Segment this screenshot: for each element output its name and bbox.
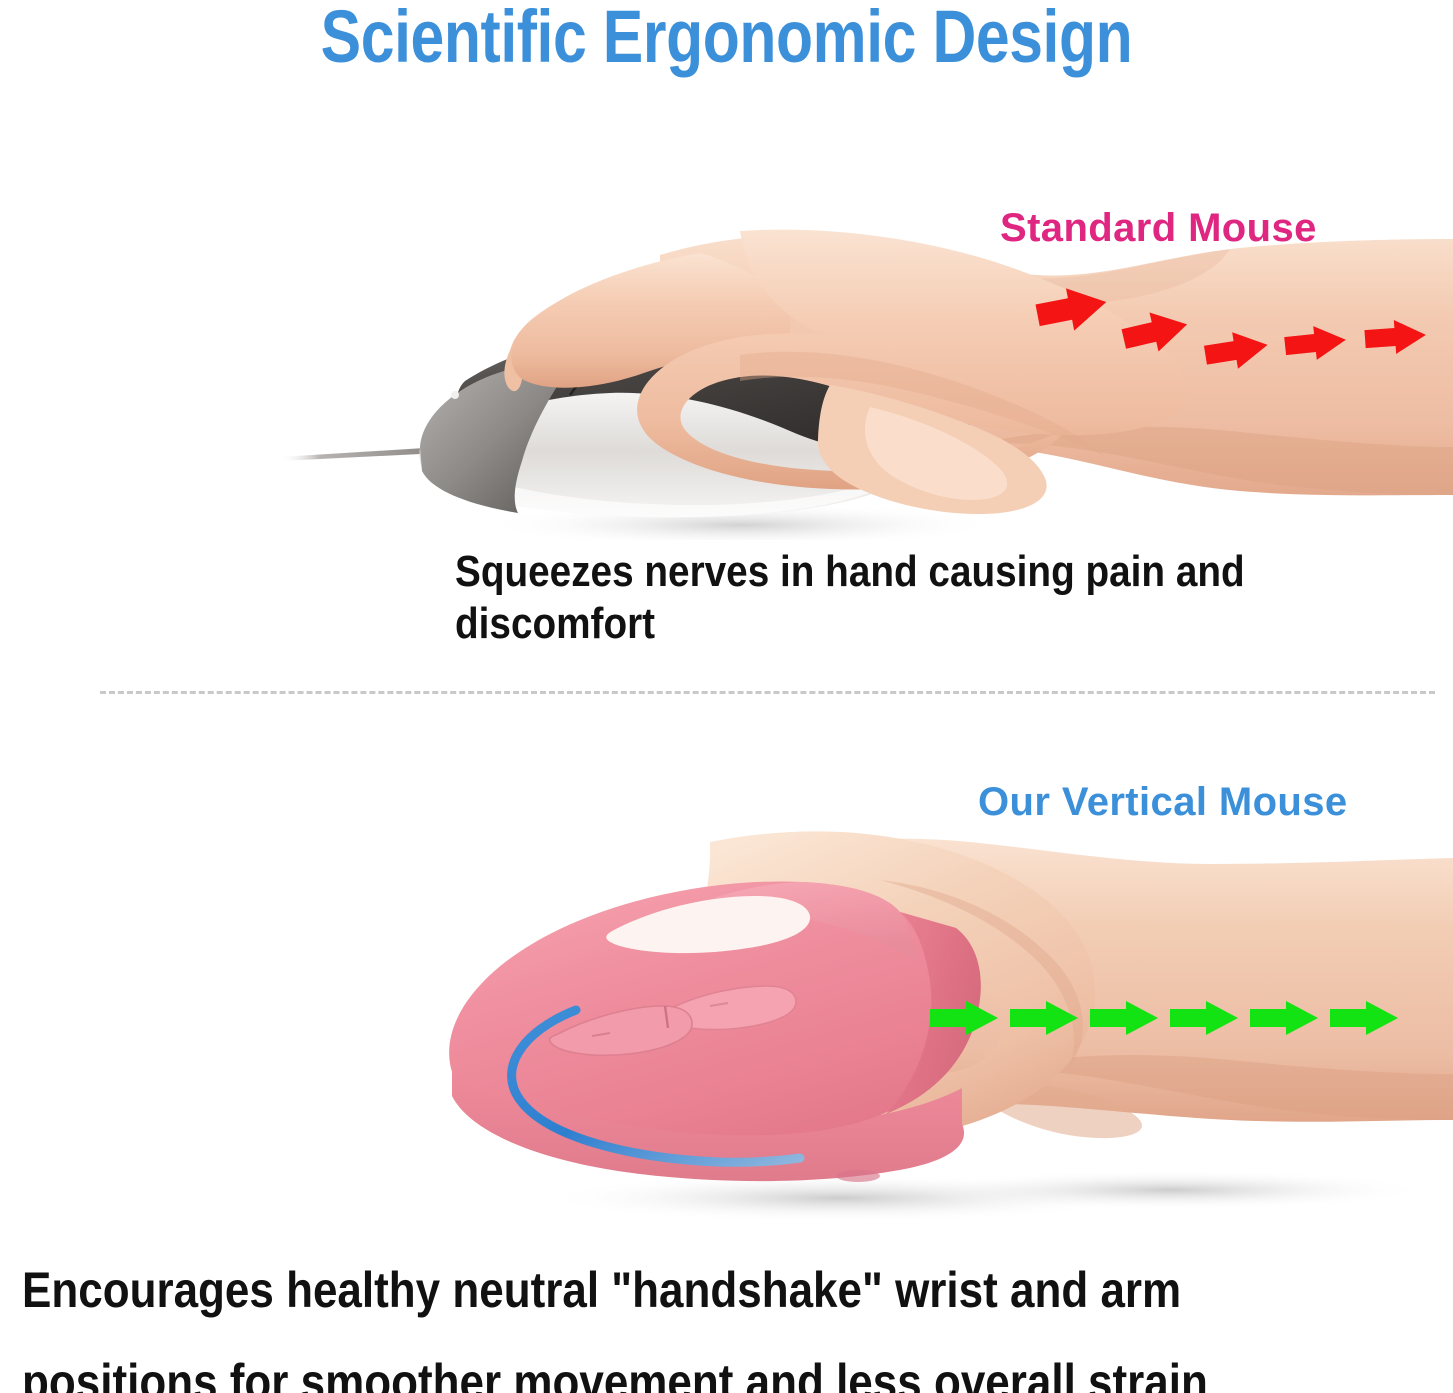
button-arrow-up [710,1003,728,1006]
mouse-top-shell [456,327,968,455]
forearm-lower-shading [970,427,1453,495]
thumb-highlight [865,407,1007,500]
vertical-mouse-shadow [540,1174,1140,1222]
mouse-button-split [570,335,608,395]
scroll-panel [606,896,810,953]
section-divider [100,691,1435,694]
blue-accent-line [512,1010,800,1162]
vertical-mouse-caption-line-1: Encourages healthy neutral "handshake" w… [22,1244,1430,1336]
button-arrow-down [592,1033,610,1036]
hand-grip [671,831,1095,1144]
index-finger [509,253,790,388]
side-button-upper [665,986,796,1030]
mouse-top-ridge [666,882,916,962]
page-title: Scientific Ergonomic Design [131,0,1322,76]
wrist-shading [890,249,1230,305]
mouse-body [420,344,928,517]
mouse-body-highlight [445,465,910,517]
arm-shadow [910,1170,1430,1210]
knuckle-shading-bottom [880,880,1083,1066]
green-arrow-4 [1170,1001,1238,1035]
green-arrow-1 [930,1001,998,1035]
red-arrow-2 [1119,305,1191,359]
button-divider [665,1006,668,1028]
side-button-lower [550,1006,692,1055]
thumbnail [640,1006,706,1079]
red-arrow-1 [1034,281,1111,337]
standard-mouse-label: Standard Mouse [1000,204,1317,252]
red-arrow-4 [1283,323,1347,363]
red-arrow-5 [1364,318,1427,356]
standard-mouse-caption: Squeezes nerves in hand causing pain and… [455,546,1273,650]
vertical-mouse-caption-line-2: positions for smoother movement and less… [22,1336,1430,1393]
green-arrow-5 [1250,1001,1318,1035]
mouse-led-dot [451,391,459,399]
knuckle-shading [740,352,1106,457]
forearm-bottom [730,839,1453,1136]
infographic-page: Scientific Ergonomic Design [0,0,1453,1393]
mouse-side-face [886,912,981,1114]
vertical-mouse-label: Our Vertical Mouse [978,778,1348,826]
vertical-mouse-caption: Encourages healthy neutral "handshake" w… [22,1244,1430,1393]
vertical-mouse-illustration [410,820,1453,1235]
hand-creases [740,1082,888,1142]
green-arrow-6 [1330,1001,1398,1035]
green-arrow-3 [1090,1001,1158,1035]
mouse-nose [420,353,580,513]
wrist-bump [970,1084,1142,1138]
thumb-bottom [628,986,733,1096]
mouse-base [452,1072,964,1181]
green-arrow-group [930,1001,1398,1035]
forearm [660,235,1453,495]
mouse-foot [836,1170,880,1182]
forearm-bottom-shading [970,1055,1453,1120]
hand-over-mouse [637,230,1188,490]
mouse-shell [449,881,979,1135]
red-arrow-group [1034,281,1428,373]
index-fingertip [504,323,528,391]
thumb [818,385,1047,514]
green-arrow-2 [1010,1001,1078,1035]
red-arrow-3 [1203,327,1271,373]
mouse-shadow [480,503,1000,540]
mouse-cable [280,447,440,461]
